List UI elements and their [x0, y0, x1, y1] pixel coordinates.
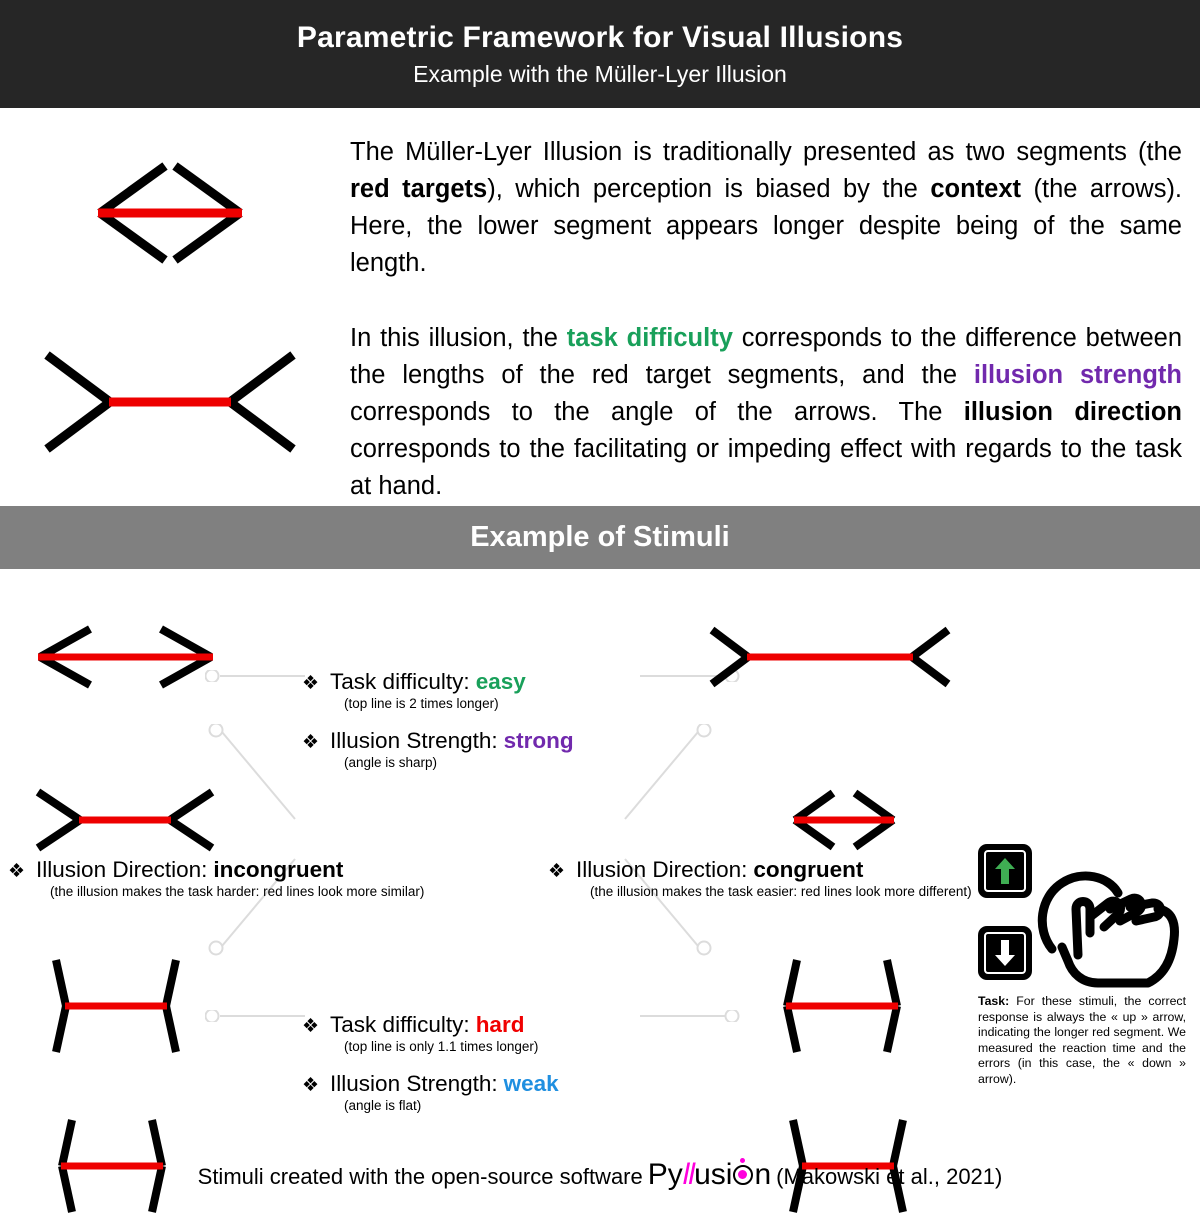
intro-p2-part1: In this illusion, the — [350, 324, 567, 352]
bullet-note-illusion-strength-weak: (angle is flat) — [344, 1098, 559, 1113]
bullet-diamond-icon: ❖ — [302, 674, 319, 693]
task-label: Task: — [978, 994, 1009, 1008]
key-down-arrow[interactable] — [978, 926, 1032, 980]
bullet-illusion-strength-weak: ❖ Illusion Strength: weak — [302, 1071, 559, 1097]
stimulus-top-left-short-outward — [18, 787, 233, 852]
intro-section: The Müller-Lyer Illusion is traditionall… — [0, 108, 1200, 506]
bullet-note-task-difficulty-easy: (top line is 2 times longer) — [344, 696, 574, 711]
muller-lyer-inward-fins-figure — [70, 148, 270, 278]
stimulus-bottom-left-long-outward — [38, 954, 208, 1059]
bullet-illusion-strength-strong: ❖ Illusion Strength: strong — [302, 728, 574, 754]
page-header: Parametric Framework for Visual Illusion… — [0, 0, 1200, 108]
pyllusion-logo: Pyllusin — [648, 1158, 771, 1192]
intro-p1-bold-red-targets: red targets — [350, 175, 487, 203]
muller-lyer-outward-fins-figure — [35, 337, 305, 467]
intro-text: The Müller-Lyer Illusion is traditionall… — [340, 118, 1200, 506]
logo-part-ll-magenta: ll — [683, 1158, 694, 1192]
bullet-task-difficulty-easy: ❖ Task difficulty: easy — [302, 669, 574, 695]
bullet-note-task-difficulty-hard: (top line is only 1.1 times longer) — [344, 1039, 559, 1054]
stimulus-top-right-short-inward — [775, 787, 915, 852]
logo-part-n: n — [754, 1158, 771, 1192]
intro-p2-part3: corresponds to the angle of the arrows. … — [350, 398, 964, 426]
intro-p1-part2: ), which perception is biased by the — [487, 175, 930, 203]
bullet-diamond-icon: ❖ — [302, 733, 319, 752]
bullet-value: hard — [476, 1012, 525, 1038]
response-keys-illustration — [978, 844, 1032, 980]
connector-bottom-right — [640, 1009, 740, 1027]
bullet-diamond-icon: ❖ — [8, 862, 25, 881]
connector-line-bottom-left — [205, 1010, 305, 1022]
bullet-label: Illusion Strength: — [330, 1071, 498, 1097]
arrow-down-icon — [994, 938, 1016, 968]
footer-prefix: Stimuli created with the open-source sof… — [198, 1164, 643, 1190]
section-banner-label: Example of Stimuli — [470, 521, 729, 554]
pointing-hand-icon — [1032, 857, 1192, 992]
bullet-value: strong — [504, 728, 574, 754]
page-subtitle: Example with the Müller-Lyer Illusion — [413, 61, 787, 88]
footer-citation: (Makowski et al., 2021) — [776, 1164, 1002, 1190]
logo-part-o-circle — [733, 1165, 753, 1185]
intro-p2-task-difficulty: task difficulty — [567, 324, 733, 352]
connector-line-bottom-right — [640, 1010, 740, 1022]
bullet-diamond-icon: ❖ — [302, 1017, 319, 1036]
intro-p2-illusion-direction: illusion direction — [964, 398, 1182, 426]
bullet-label: Illusion Strength: — [330, 728, 498, 754]
logo-dot-accent — [740, 1158, 745, 1163]
bullet-value: congruent — [753, 857, 863, 883]
bullet-note-congruent: (the illusion makes the task easier: red… — [590, 884, 972, 899]
bullet-note-illusion-strength-strong: (angle is sharp) — [344, 755, 574, 770]
stimulus-top-right-long-outward — [700, 624, 960, 689]
intro-p1-bold-context: context — [930, 175, 1021, 203]
bullet-diamond-icon: ❖ — [548, 862, 565, 881]
bullet-value: easy — [476, 669, 526, 695]
intro-p1-part1: The Müller-Lyer Illusion is traditionall… — [350, 138, 1182, 166]
arrow-up-icon — [994, 856, 1016, 886]
intro-figures — [0, 118, 340, 506]
bullet-label: Illusion Direction: — [36, 857, 207, 883]
bullet-task-difficulty-hard: ❖ Task difficulty: hard — [302, 1012, 559, 1038]
intro-paragraph-1: The Müller-Lyer Illusion is traditionall… — [350, 134, 1182, 282]
stimulus-bottom-right-long-inward — [765, 954, 935, 1059]
bullet-group-hard-weak: ❖ Task difficulty: hard (top line is onl… — [302, 1012, 559, 1113]
bullet-value: incongruent — [213, 857, 343, 883]
task-description: Task: For these stimuli, the correct res… — [978, 994, 1186, 1088]
bullet-group-incongruent: ❖ Illusion Direction: incongruent (the i… — [8, 857, 424, 899]
bullet-illusion-direction-incongruent: ❖ Illusion Direction: incongruent — [8, 857, 424, 883]
stimuli-section: ❖ Task difficulty: easy (top line is 2 t… — [0, 569, 1200, 1200]
key-up-arrow[interactable] — [978, 844, 1032, 898]
bullet-label: Task difficulty: — [330, 669, 470, 695]
intro-p2-illusion-strength: illusion strength — [974, 361, 1182, 389]
bullet-note-incongruent: (the illusion makes the task harder: red… — [50, 884, 424, 899]
bullet-illusion-direction-congruent: ❖ Illusion Direction: congruent — [548, 857, 972, 883]
key-up-inner — [984, 850, 1026, 892]
stimulus-top-left-long-inward — [18, 624, 233, 689]
connector-bottom-left — [205, 1009, 305, 1027]
footer: Stimuli created with the open-source sof… — [0, 1158, 1200, 1192]
task-body: For these stimuli, the correct response … — [978, 994, 1186, 1086]
section-banner: Example of Stimuli — [0, 506, 1200, 569]
bullet-label: Task difficulty: — [330, 1012, 470, 1038]
bullet-value: weak — [504, 1071, 559, 1097]
bullet-diamond-icon: ❖ — [302, 1076, 319, 1095]
bullet-label: Illusion Direction: — [576, 857, 747, 883]
bullet-group-congruent: ❖ Illusion Direction: congruent (the ill… — [548, 857, 972, 899]
key-down-inner — [984, 932, 1026, 974]
logo-part-py: Py — [648, 1158, 683, 1192]
logo-part-usi: usi — [694, 1158, 732, 1192]
intro-paragraph-2: In this illusion, the task difficulty co… — [350, 320, 1182, 505]
bullet-group-easy-strong: ❖ Task difficulty: easy (top line is 2 t… — [302, 669, 574, 770]
intro-p2-part4: corresponds to the facilitating or imped… — [350, 435, 1182, 500]
page-title: Parametric Framework for Visual Illusion… — [297, 21, 903, 55]
